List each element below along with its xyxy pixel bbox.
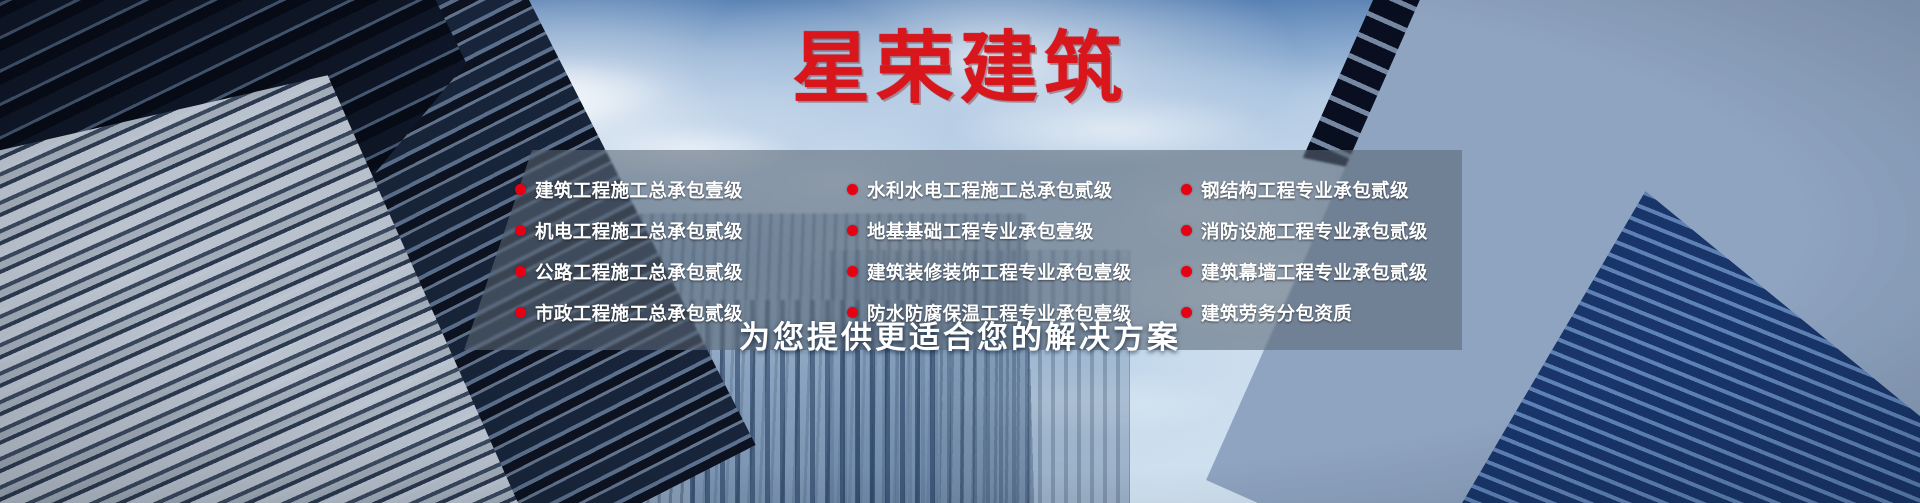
qualification-label: 建筑幕墙工程专业承包贰级 bbox=[1201, 259, 1428, 285]
qualification-item: 建筑幕墙工程专业承包贰级 bbox=[1181, 258, 1465, 285]
qualification-item: 钢结构工程专业承包贰级 bbox=[1181, 176, 1465, 203]
qualifications-column-3: 钢结构工程专业承包贰级 消防设施工程专业承包贰级 建筑幕墙工程专业承包贰级 建筑… bbox=[1181, 176, 1465, 326]
company-name-text: 星荣建筑 bbox=[792, 30, 1128, 108]
qualification-item: 地基基础工程专业承包壹级 bbox=[847, 217, 1181, 244]
bullet-dot-icon bbox=[847, 266, 858, 277]
bullet-dot-icon bbox=[847, 225, 858, 236]
qualification-label: 建筑工程施工总承包壹级 bbox=[535, 177, 743, 203]
qualification-label: 水利水电工程施工总承包贰级 bbox=[867, 177, 1113, 203]
bullet-dot-icon bbox=[515, 225, 526, 236]
qualification-item: 消防设施工程专业承包贰级 bbox=[1181, 217, 1465, 244]
bullet-dot-icon bbox=[847, 184, 858, 195]
qualification-item: 建筑装修装饰工程专业承包壹级 bbox=[847, 258, 1181, 285]
qualification-label: 建筑装修装饰工程专业承包壹级 bbox=[867, 259, 1132, 285]
hero-banner: 星荣建筑 建筑工程施工总承包壹级 机电工程施工总承包贰级 公路工程施工总承包贰级… bbox=[0, 0, 1920, 503]
qualification-label: 公路工程施工总承包贰级 bbox=[535, 259, 743, 285]
qualifications-column-2: 水利水电工程施工总承包贰级 地基基础工程专业承包壹级 建筑装修装饰工程专业承包壹… bbox=[847, 176, 1181, 326]
bullet-dot-icon bbox=[515, 266, 526, 277]
qualification-item: 公路工程施工总承包贰级 bbox=[515, 258, 847, 285]
qualifications-column-1: 建筑工程施工总承包壹级 机电工程施工总承包贰级 公路工程施工总承包贰级 市政工程… bbox=[515, 176, 847, 326]
bullet-dot-icon bbox=[1181, 266, 1192, 277]
bullet-dot-icon bbox=[1181, 225, 1192, 236]
banner-title: 星荣建筑 bbox=[0, 30, 1920, 108]
qualification-item: 建筑工程施工总承包壹级 bbox=[515, 176, 847, 203]
bullet-dot-icon bbox=[515, 184, 526, 195]
qualification-label: 消防设施工程专业承包贰级 bbox=[1201, 218, 1428, 244]
qualification-label: 钢结构工程专业承包贰级 bbox=[1201, 177, 1409, 203]
qualification-label: 机电工程施工总承包贰级 bbox=[535, 218, 743, 244]
qualification-label: 地基基础工程专业承包壹级 bbox=[867, 218, 1094, 244]
tagline-text: 为您提供更适合您的解决方案 bbox=[739, 312, 1181, 357]
bullet-dot-icon bbox=[1181, 184, 1192, 195]
banner-tagline: 为您提供更适合您的解决方案 bbox=[0, 312, 1920, 357]
qualification-item: 水利水电工程施工总承包贰级 bbox=[847, 176, 1181, 203]
qualification-item: 机电工程施工总承包贰级 bbox=[515, 217, 847, 244]
